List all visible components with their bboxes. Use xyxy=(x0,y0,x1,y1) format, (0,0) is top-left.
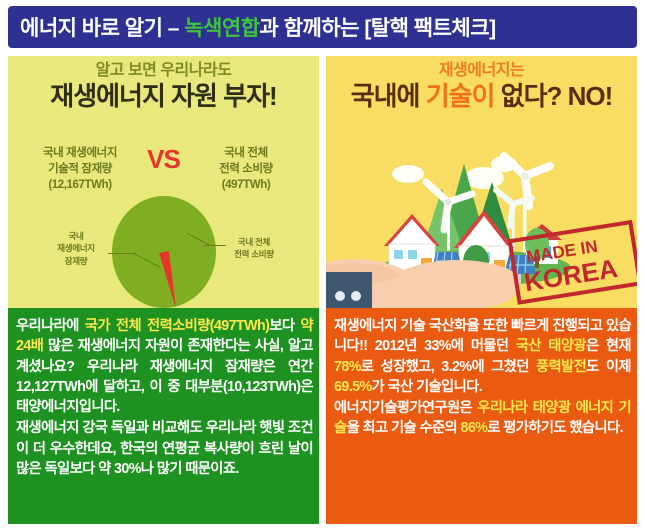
right-p1-highlight-78: 78% xyxy=(334,359,361,375)
right-panel: 재생에너지는 국내에 기술이 없다? NO! xyxy=(326,56,637,524)
pie-chart: 국내 재생에너지 기술적 잠재량 (12,167TWh) VS 국내 전체 전력… xyxy=(8,140,319,308)
right-p1-g: 도 이제 xyxy=(586,359,631,375)
right-p1-highlight-695: 69.5% xyxy=(334,379,372,395)
right-p1-e: 로 성장했고, 3.2%에 그쳤던 xyxy=(361,359,536,375)
versus-label: VS xyxy=(147,144,180,175)
left-body-text: 우리나라에 국가 전체 전력소비량(497TWh)보다 약 24배 많은 재생에… xyxy=(8,308,319,524)
chart-label-consumption-line2: 전력 소비량 xyxy=(219,163,273,175)
right-body-text: 재생에너지 기술 국산화율 또한 빠르게 진행되고 있습니다!! 2012년 3… xyxy=(326,308,637,524)
cloud-icon xyxy=(392,165,424,183)
right-p2-e: 로 평가하기도 했습니다. xyxy=(487,420,623,436)
pie-callout-consumption: 국내 전체 전력 소비량 xyxy=(220,236,288,261)
right-p1-i: 가 국산 기술입니다. xyxy=(372,379,483,395)
right-p2-highlight-86: 86% xyxy=(460,420,487,436)
left-hero: 알고 보면 우리나라도 재생에너지 자원 부자! 국내 재생에너지 기술적 잠재… xyxy=(8,56,319,308)
left-heading-big: 재생에너지 자원 부자! xyxy=(8,82,319,112)
pie-slice-potential xyxy=(112,196,216,308)
title-suffix: 과 함께하는 [탈핵 팩트체크] xyxy=(260,17,496,40)
leader-line-left-1 xyxy=(108,253,136,254)
right-p1-highlight-solar: 국산 태양광 xyxy=(516,338,586,354)
left-paragraph-2: 재생에너지 강국 독일과 비교해도 우리나라 햇빛 조건이 더 우수한데요, 한… xyxy=(16,418,313,479)
left-p1-a: 우리나라에 xyxy=(16,318,85,334)
pie-callout-potential: 국내 재생에너지 잠재량 xyxy=(46,230,106,267)
pie-slice-consumption xyxy=(159,251,181,308)
right-heading-group: 재생에너지는 국내에 기술이 없다? NO! xyxy=(326,62,637,112)
chart-label-consumption-line1: 국내 전체 xyxy=(224,147,268,159)
title-highlight-organization: 녹색연합 xyxy=(184,17,259,40)
hand-holding-green-village-illustration: MADE IN KOREA xyxy=(326,136,637,308)
left-paragraph-1: 우리나라에 국가 전체 전력소비량(497TWh)보다 약 24배 많은 재생에… xyxy=(16,316,313,417)
chart-label-consumption: 국내 전체 전력 소비량 (497TWh) xyxy=(186,146,306,194)
infographic-root: 에너지 바로 알기 – 녹색연합과 함께하는 [탈핵 팩트체크] 알고 보면 우… xyxy=(0,0,645,531)
chart-label-potential-value: (12,167TWh) xyxy=(20,178,140,194)
chart-label-potential-line2: 기술적 잠재량 xyxy=(48,163,112,175)
right-heading-big-a: 국내에 xyxy=(351,81,426,111)
chart-label-potential: 국내 재생에너지 기술적 잠재량 (12,167TWh) xyxy=(20,146,140,194)
right-hero: 재생에너지는 국내에 기술이 없다? NO! xyxy=(326,56,637,308)
title-banner: 에너지 바로 알기 – 녹색연합과 함께하는 [탈핵 팩트체크] xyxy=(8,6,637,48)
title-banner-text: 에너지 바로 알기 – 녹색연합과 함께하는 [탈핵 팩트체크] xyxy=(20,12,496,42)
right-heading-big-b: 기술이 xyxy=(426,81,501,111)
left-heading-small: 알고 보면 우리나라도 xyxy=(8,62,319,80)
pie-graphic xyxy=(112,196,216,308)
right-p2-a: 에너지기술평가연구원은 xyxy=(334,400,477,416)
right-heading-big-no: NO! xyxy=(568,81,613,111)
sleeve-icon xyxy=(326,272,372,308)
left-panel: 알고 보면 우리나라도 재생에너지 자원 부자! 국내 재생에너지 기술적 잠재… xyxy=(8,56,319,524)
right-p1-c: 은 현재 xyxy=(586,338,631,354)
title-prefix: 에너지 바로 알기 – xyxy=(20,17,184,40)
left-p1-highlight-consumption: 국가 전체 전력소비량(497TWh) xyxy=(85,318,270,334)
left-p1-c: 보다 xyxy=(269,318,300,334)
right-heading-big: 국내에 기술이 없다? NO! xyxy=(326,82,637,112)
left-p1-e: 많은 재생에너지 자원이 존재한다는 사실, 알고 계셨나요? 우리나라 재생에… xyxy=(16,338,313,415)
right-p1-highlight-wind: 풍력발전 xyxy=(536,359,586,375)
right-paragraph-2: 에너지기술평가연구원은 우리나라 태양광 에너지 기술을 최고 기술 수준의 8… xyxy=(334,398,631,439)
right-p2-c: 을 최고 기술 수준의 xyxy=(347,420,461,436)
right-heading-small: 재생에너지는 xyxy=(326,62,637,80)
right-paragraph-1: 재생에너지 기술 국산화율 또한 빠르게 진행되고 있습니다!! 2012년 3… xyxy=(334,316,631,397)
chart-label-potential-line1: 국내 재생에너지 xyxy=(43,147,117,159)
illustration-svg: MADE IN KOREA xyxy=(326,136,637,308)
chart-label-consumption-value: (497TWh) xyxy=(186,178,306,194)
left-heading-group: 알고 보면 우리나라도 재생에너지 자원 부자! xyxy=(8,62,319,112)
right-heading-big-c: 없다? xyxy=(501,81,568,111)
